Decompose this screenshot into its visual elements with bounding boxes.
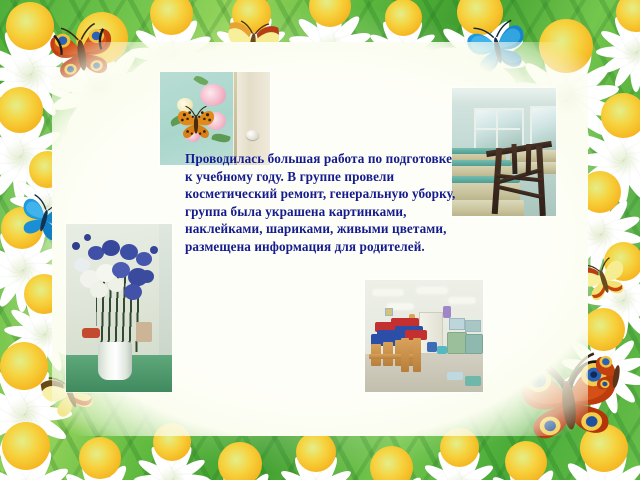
daisy-flower <box>0 398 74 480</box>
daisy-flower <box>0 318 72 414</box>
daisy-flower <box>10 132 84 206</box>
daisy-flower <box>128 0 214 56</box>
daisy-flower <box>420 408 498 480</box>
daisy-flower <box>0 186 64 270</box>
daisy-flower <box>366 0 440 54</box>
daisy-flower <box>434 0 526 58</box>
slide-canvas: Проводилась большая работа по подготовке… <box>0 0 640 480</box>
daisy-flower <box>288 0 372 48</box>
daisy-flower <box>0 64 66 156</box>
daisy-flower <box>560 286 640 372</box>
butterfly-peacock-top-left <box>38 13 124 85</box>
daisy-flower <box>196 420 284 480</box>
photo-group-bedroom-cots <box>452 88 556 216</box>
daisy-flower <box>578 70 640 160</box>
caption-text: Проводилась большая работа по подготовке… <box>185 150 463 256</box>
butterfly-peacock-right-lower <box>584 343 640 400</box>
daisy-flower <box>58 416 142 480</box>
daisy-flower <box>584 222 640 300</box>
daisy-flower <box>512 0 620 100</box>
butterfly-peacock-bottom-right <box>505 342 630 450</box>
daisy-flower <box>348 424 434 480</box>
butterfly-yellow-top-center <box>215 10 290 73</box>
daisy-flower <box>596 0 640 52</box>
daisy-flower <box>134 404 210 480</box>
daisy-flower <box>50 0 154 90</box>
daisy-flower <box>276 412 356 480</box>
butterfly-blue-top-right <box>455 9 540 83</box>
daisy-flower <box>556 400 640 480</box>
butterfly-peacock-bottom-center <box>190 351 270 422</box>
photo-group-room-chairs <box>365 280 483 392</box>
daisy-flower <box>212 0 290 52</box>
daisy-flower <box>558 150 640 234</box>
photo-bouquet-in-vase <box>66 224 172 392</box>
butterfly-yellow-right <box>565 244 640 313</box>
daisy-flower <box>0 0 78 74</box>
daisy-flower <box>484 420 568 480</box>
